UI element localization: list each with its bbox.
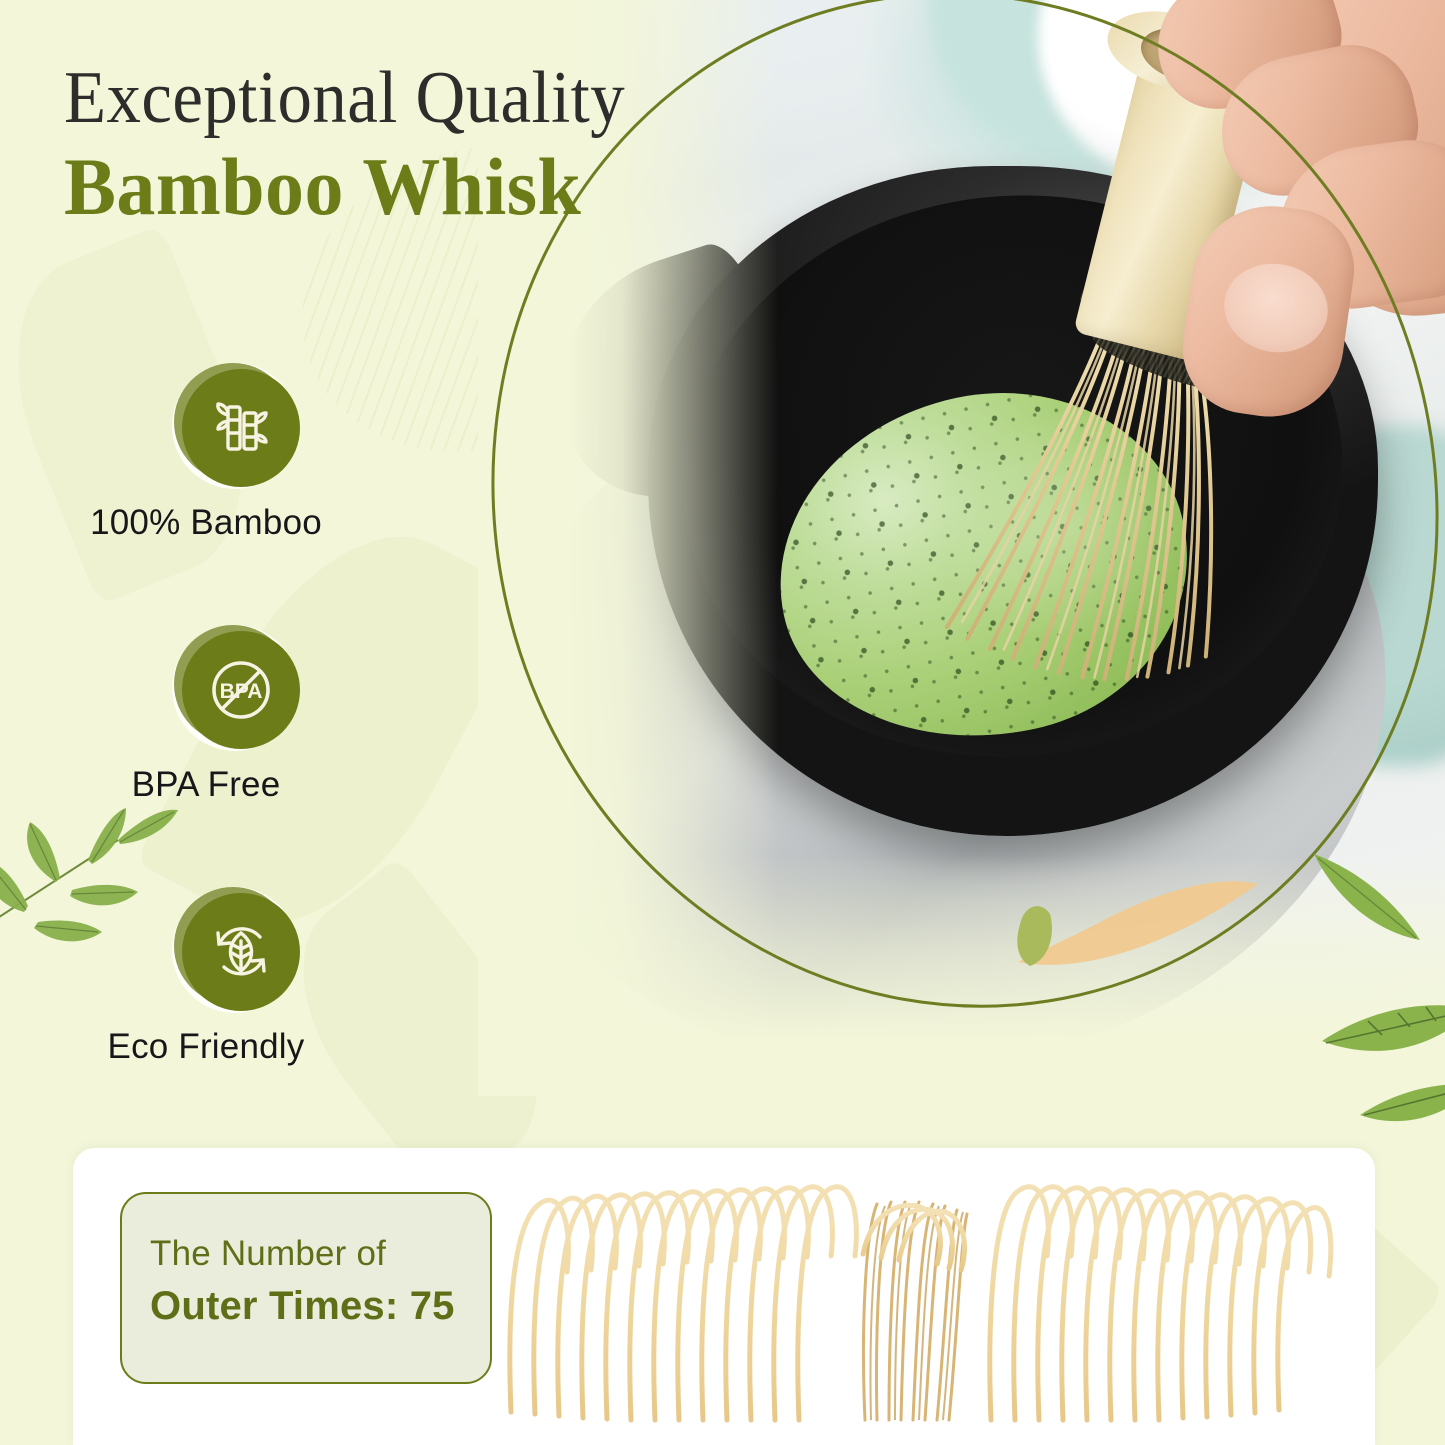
feature-badge	[172, 887, 304, 1019]
feature-item-eco-friendly: Eco Friendly	[0, 879, 470, 1141]
spec-card: The Number of Outer Times: 75	[120, 1192, 492, 1384]
spec-card-label: The Number of	[150, 1234, 386, 1274]
headline-block: Exceptional Quality Bamboo Whisk	[64, 62, 667, 228]
feature-badge: BPA	[172, 625, 304, 757]
photo-bottom-fade	[478, 856, 1445, 1096]
feature-label: 100% Bamboo	[0, 503, 470, 543]
svg-text:BPA: BPA	[220, 680, 263, 703]
bamboo-stalks-icon	[182, 369, 300, 487]
spec-card-value: Outer Times: 75	[150, 1284, 455, 1329]
headline-line-2: Bamboo Whisk	[64, 145, 637, 229]
feature-label: BPA Free	[0, 765, 470, 805]
feature-list: 100% Bamboo BPA BPA Free	[0, 355, 470, 1141]
bpa-free-icon: BPA	[182, 631, 300, 749]
eco-recycle-leaf-icon	[182, 893, 300, 1011]
feature-badge	[172, 363, 304, 495]
infographic-root: Exceptional Quality Bamboo Whisk	[0, 0, 1445, 1445]
feature-label: Eco Friendly	[0, 1027, 470, 1067]
headline-line-1: Exceptional Quality	[64, 62, 625, 135]
feature-item-bpa-free: BPA BPA Free	[0, 617, 470, 879]
hand-holding-whisk	[1128, 0, 1445, 436]
bamboo-whisk-tines-closeup-photo	[493, 1162, 1375, 1430]
bottom-panel: The Number of Outer Times: 75	[73, 1148, 1375, 1445]
bamboo-matcha-scoop	[1008, 866, 1268, 986]
feature-item-bamboo: 100% Bamboo	[0, 355, 470, 617]
